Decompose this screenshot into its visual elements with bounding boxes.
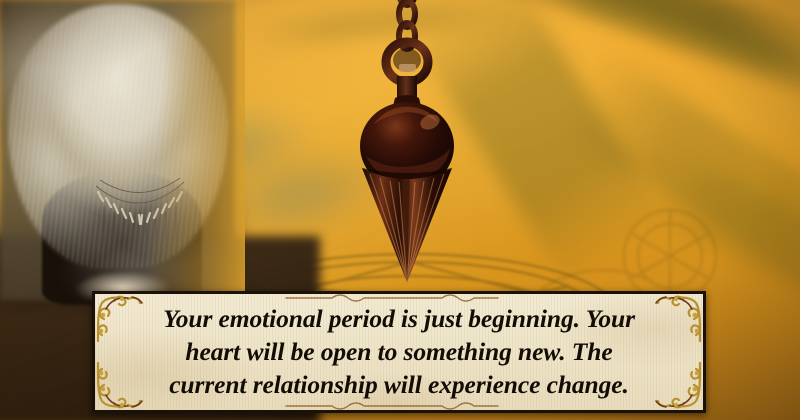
- quote-line-3: current relationship will experience cha…: [117, 368, 681, 401]
- quote-line-1: Your emotional period is just beginning.…: [117, 302, 681, 335]
- woman-figure: [0, 0, 235, 300]
- pendulum: [352, 0, 462, 288]
- quote-text: Your emotional period is just beginning.…: [95, 294, 703, 401]
- beaded-necklace-icon: [84, 176, 196, 254]
- quote-line-2: heart will be open to something new. The: [117, 335, 681, 368]
- quote-box: Your emotional period is just beginning.…: [92, 291, 706, 413]
- mystical-pendulum-quote-image: Your emotional period is just beginning.…: [0, 0, 800, 420]
